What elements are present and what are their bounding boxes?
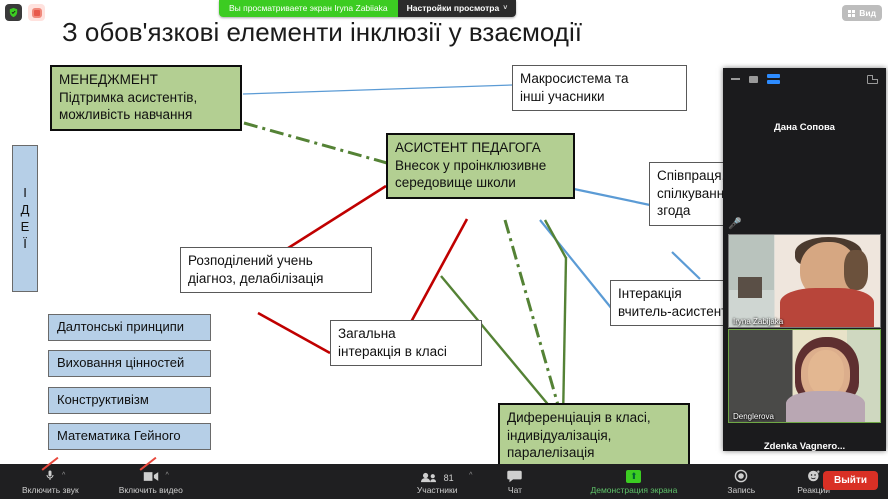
node-general-class-interaction-line2: інтеракція в класі xyxy=(338,344,447,359)
maximize-icon[interactable] xyxy=(749,76,758,83)
node-management-line3: можливість навчання xyxy=(59,107,192,122)
ideas-sidebar: І Д Е Ї xyxy=(12,145,38,292)
ideas-letter-4: Ї xyxy=(23,236,27,252)
node-teacher-assistant-interaction-line2: вчитель-асистент xyxy=(618,304,725,319)
node-macrosystem-line2: інші учасники xyxy=(520,89,605,104)
chevron-down-icon: ˅ xyxy=(503,0,507,17)
recording-icon[interactable] xyxy=(28,4,45,21)
video-tile-name-zdenka: Zdenka Vagnero... xyxy=(723,441,886,452)
video-panel-header xyxy=(723,68,886,90)
node-differentiation-line2: індивідуалізація, xyxy=(507,428,611,443)
node-general-class-interaction-line1: Загальна xyxy=(338,326,396,341)
idea-box-hejny-math-label: Математика Гейного xyxy=(57,428,181,443)
video-tile-label: Denglerova xyxy=(731,412,776,421)
node-macrosystem-line1: Макросистема та xyxy=(520,71,629,86)
webcam-image-denglerova xyxy=(729,330,880,422)
idea-box-dalton-label: Далтонські принципи xyxy=(57,319,184,334)
leave-meeting-button[interactable]: Выйти xyxy=(823,471,878,490)
idea-box-constructivism-label: Конструктивізм xyxy=(57,392,149,407)
record-icon xyxy=(734,468,748,483)
idea-box-dalton: Далтонські принципи xyxy=(48,314,211,341)
toolbar-share-screen-button[interactable]: ⬆ Демонстрация экрана xyxy=(586,468,681,495)
grid-icon xyxy=(848,10,855,17)
top-share-bar: Вы просматриваете экран Iryna Zabiiaka Н… xyxy=(0,0,888,17)
node-cooperation-line1: Співпраця, xyxy=(657,168,725,183)
top-left-icons xyxy=(5,4,45,21)
webcam-image-iryna xyxy=(729,235,880,327)
popout-icon[interactable] xyxy=(867,75,878,84)
view-settings-button[interactable]: Настройки просмотра ˅ xyxy=(398,0,517,17)
ideas-letter-1: І xyxy=(23,185,27,201)
toolbar-chat-button[interactable]: Чат xyxy=(503,468,526,495)
toolbar-chat-label: Чат xyxy=(508,485,522,495)
participants-icon: 81 ^ xyxy=(421,468,454,483)
node-distributed-pupil-line1: Розподілений учень xyxy=(188,253,313,268)
chevron-up-icon[interactable]: ^ xyxy=(469,472,472,479)
chevron-up-icon[interactable]: ^ xyxy=(165,472,168,479)
video-tile-denglerova[interactable]: Denglerova xyxy=(728,329,881,423)
toolbar-participants-label: Участники xyxy=(417,485,458,495)
active-speaker-name: Дана Сопова xyxy=(723,122,886,133)
shield-icon[interactable] xyxy=(5,4,22,21)
idea-box-constructivism: Конструктивізм xyxy=(48,387,211,414)
view-settings-label: Настройки просмотра xyxy=(407,0,500,17)
node-differentiation-line3: паралелізація xyxy=(507,445,594,460)
microphone-muted-icon: ^ xyxy=(44,468,56,483)
node-differentiation-line1: Диференціація в класі, xyxy=(507,410,651,425)
node-management-line2: Підтримка асистентів, xyxy=(59,90,197,105)
node-teacher-assistant-interaction-line1: Інтеракція xyxy=(618,286,682,301)
zoom-screen-share-window: Вы просматриваете экран Iryna Zabiiaka Н… xyxy=(0,0,888,499)
node-distributed-pupil: Розподілений учень діагноз, делабілізаці… xyxy=(180,247,372,293)
video-tile-label: Iryna Zabijaka xyxy=(731,317,785,326)
camera-muted-icon: ^ xyxy=(142,468,160,483)
video-tile-iryna[interactable]: Iryna Zabijaka xyxy=(728,234,881,328)
node-management-title: МЕНЕДЖМЕНТ xyxy=(59,71,233,89)
node-distributed-pupil-line2: діагноз, делабілізація xyxy=(188,271,323,286)
node-teaching-assistant-title: АСИСТЕНТ ПЕДАГОГА xyxy=(395,139,566,157)
participants-count: 81 xyxy=(444,473,454,483)
video-panel: Дана Сопова 🎤 Iryna Zabijaka Denglerova … xyxy=(723,68,886,451)
reactions-icon xyxy=(807,468,821,483)
chat-icon xyxy=(507,468,522,483)
view-button[interactable]: Вид xyxy=(842,5,882,21)
toolbar-video-label: Включить видео xyxy=(119,485,183,495)
view-toggle-icon[interactable] xyxy=(767,74,780,84)
ideas-letter-2: Д xyxy=(21,202,30,218)
toolbar-record-button[interactable]: Запись xyxy=(723,468,759,495)
toolbar-record-label: Запись xyxy=(727,485,755,495)
node-teacher-assistant-interaction: Інтеракція вчитель-асистент xyxy=(610,280,725,326)
idea-box-values-label: Виховання цінностей xyxy=(57,355,184,370)
toolbar-video-button[interactable]: ^ Включить видео xyxy=(115,468,187,495)
node-general-class-interaction: Загальна інтеракція в класі xyxy=(330,320,482,366)
node-teaching-assistant-line3: середовище школи xyxy=(395,175,516,190)
node-teaching-assistant: АСИСТЕНТ ПЕДАГОГА Внесок у проінклюзивне… xyxy=(386,133,575,199)
node-macrosystem: Макросистема та інші учасники xyxy=(512,65,687,111)
share-screen-icon: ⬆ xyxy=(626,468,641,483)
idea-box-hejny-math: Математика Гейного xyxy=(48,423,211,450)
toolbar-mute-label: Включить звук xyxy=(22,485,79,495)
meeting-toolbar: ^ Включить звук ^ Включить видео 81 ^ Уч… xyxy=(0,464,888,499)
chevron-up-icon[interactable]: ^ xyxy=(62,472,65,479)
microphone-muted-icon: 🎤 xyxy=(728,218,740,230)
leave-meeting-label: Выйти xyxy=(834,475,867,486)
node-differentiation: Диференціація в класі, індивідуалізація,… xyxy=(498,403,690,469)
screen-share-notice: Вы просматриваете экран Iryna Zabiiaka Н… xyxy=(219,0,516,17)
node-cooperation-line3: згода xyxy=(657,203,690,218)
node-management: МЕНЕДЖМЕНТ Підтримка асистентів, можливі… xyxy=(50,65,242,131)
node-teaching-assistant-line2: Внесок у проінклюзивне xyxy=(395,158,546,173)
view-button-label: Вид xyxy=(859,8,876,18)
share-notice-text: Вы просматриваете экран Iryna Zabiiaka xyxy=(219,0,398,17)
ideas-letter-3: Е xyxy=(21,219,30,235)
idea-box-values: Виховання цінностей xyxy=(48,350,211,377)
toolbar-mute-button[interactable]: ^ Включить звук xyxy=(18,468,83,495)
toolbar-share-screen-label: Демонстрация экрана xyxy=(590,485,677,495)
toolbar-participants-button[interactable]: 81 ^ Участники xyxy=(413,468,462,495)
minimize-icon[interactable] xyxy=(731,78,740,80)
